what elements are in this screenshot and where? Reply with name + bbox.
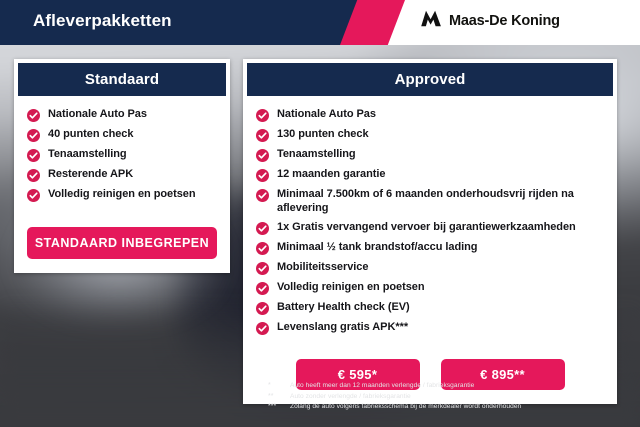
package-header-approved: Approved [247, 63, 613, 96]
package-title-approved: Approved [395, 71, 466, 88]
check-circle-icon [27, 109, 40, 122]
feature-label: Tenaamstelling [48, 147, 127, 161]
cta-container-standaard: STANDAARD INBEGREPEN [14, 217, 230, 273]
feature-label: Resterende APK [48, 167, 133, 181]
check-circle-icon [256, 129, 269, 142]
feature-label: Tenaamstelling [277, 147, 356, 161]
list-item: Minimaal ½ tank brandstof/accu lading [256, 240, 604, 255]
feature-label: 1x Gratis vervangend vervoer bij garanti… [277, 220, 576, 234]
list-item: Volledig reinigen en poetsen [256, 280, 604, 295]
feature-label: 130 punten check [277, 127, 369, 141]
list-item: Tenaamstelling [27, 147, 217, 162]
check-circle-icon [27, 129, 40, 142]
footnote-marker: ** [268, 392, 290, 403]
feature-label: Nationale Auto Pas [277, 107, 376, 121]
check-circle-icon [256, 149, 269, 162]
footnote-marker: * [268, 381, 290, 392]
footnote-item: *** Zolang de auto volgens fabrieksschem… [268, 402, 628, 413]
package-card-standaard: Standaard Nationale Auto Pas [14, 59, 230, 273]
check-circle-icon [256, 302, 269, 315]
feature-label: 12 maanden garantie [277, 167, 385, 181]
check-circle-icon [27, 149, 40, 162]
footnote-item: * Auto heeft meer dan 12 maanden verleng… [268, 381, 628, 392]
standaard-inbegrepen-button[interactable]: STANDAARD INBEGREPEN [27, 227, 217, 259]
feature-label: Volledig reinigen en poetsen [48, 187, 196, 201]
footnotes: * Auto heeft meer dan 12 maanden verleng… [268, 381, 628, 413]
package-title-standaard: Standaard [85, 71, 159, 88]
page-header: Afleverpakketten Maas-De Koning [0, 0, 640, 45]
check-circle-icon [256, 222, 269, 235]
check-circle-icon [256, 189, 269, 202]
package-header-standaard: Standaard [18, 63, 226, 96]
footnote-text: Auto zonder verlengde / fabrieksgarantie [290, 392, 411, 403]
feature-list-standaard: Nationale Auto Pas 40 punten check [14, 96, 230, 217]
list-item: 130 punten check [256, 127, 604, 142]
feature-label: Nationale Auto Pas [48, 107, 147, 121]
check-circle-icon [256, 322, 269, 335]
check-circle-icon [256, 262, 269, 275]
check-circle-icon [27, 189, 40, 202]
footnote-marker: *** [268, 402, 290, 413]
check-circle-icon [256, 242, 269, 255]
check-circle-icon [256, 109, 269, 122]
list-item: Resterende APK [27, 167, 217, 182]
feature-label: Minimaal ½ tank brandstof/accu lading [277, 240, 477, 254]
maas-de-koning-m-logo-icon [420, 10, 442, 32]
feature-label: Volledig reinigen en poetsen [277, 280, 425, 294]
list-item: Tenaamstelling [256, 147, 604, 162]
check-circle-icon [27, 169, 40, 182]
check-circle-icon [256, 169, 269, 182]
page-root: Afleverpakketten Maas-De Koning Standaar… [0, 0, 640, 427]
list-item: 1x Gratis vervangend vervoer bij garanti… [256, 220, 604, 235]
package-card-approved: Approved Nationale Auto Pas [243, 59, 617, 404]
feature-label: Battery Health check (EV) [277, 300, 410, 314]
list-item: Volledig reinigen en poetsen [27, 187, 217, 202]
list-item: Mobiliteitsservice [256, 260, 604, 275]
footnote-item: ** Auto zonder verlengde / fabrieksgaran… [268, 392, 628, 403]
list-item: Minimaal 7.500km of 6 maanden onderhouds… [256, 187, 604, 215]
feature-label: Minimaal 7.500km of 6 maanden onderhouds… [277, 187, 604, 215]
list-item: 40 punten check [27, 127, 217, 142]
list-item: Nationale Auto Pas [256, 107, 604, 122]
list-item: 12 maanden garantie [256, 167, 604, 182]
brand-lockup: Maas-De Koning [420, 10, 560, 32]
list-item: Battery Health check (EV) [256, 300, 604, 315]
check-circle-icon [256, 282, 269, 295]
feature-label: Mobiliteitsservice [277, 260, 368, 274]
feature-label: 40 punten check [48, 127, 133, 141]
feature-list-approved: Nationale Auto Pas 130 punten check [243, 96, 617, 350]
brand-name: Maas-De Koning [449, 13, 560, 29]
feature-label: Levenslang gratis APK*** [277, 320, 408, 334]
footnote-text: Zolang de auto volgens fabrieksschema bi… [290, 402, 521, 413]
footnote-text: Auto heeft meer dan 12 maanden verlengde… [290, 381, 474, 392]
list-item: Nationale Auto Pas [27, 107, 217, 122]
list-item: Levenslang gratis APK*** [256, 320, 604, 335]
page-title: Afleverpakketten [33, 11, 172, 31]
